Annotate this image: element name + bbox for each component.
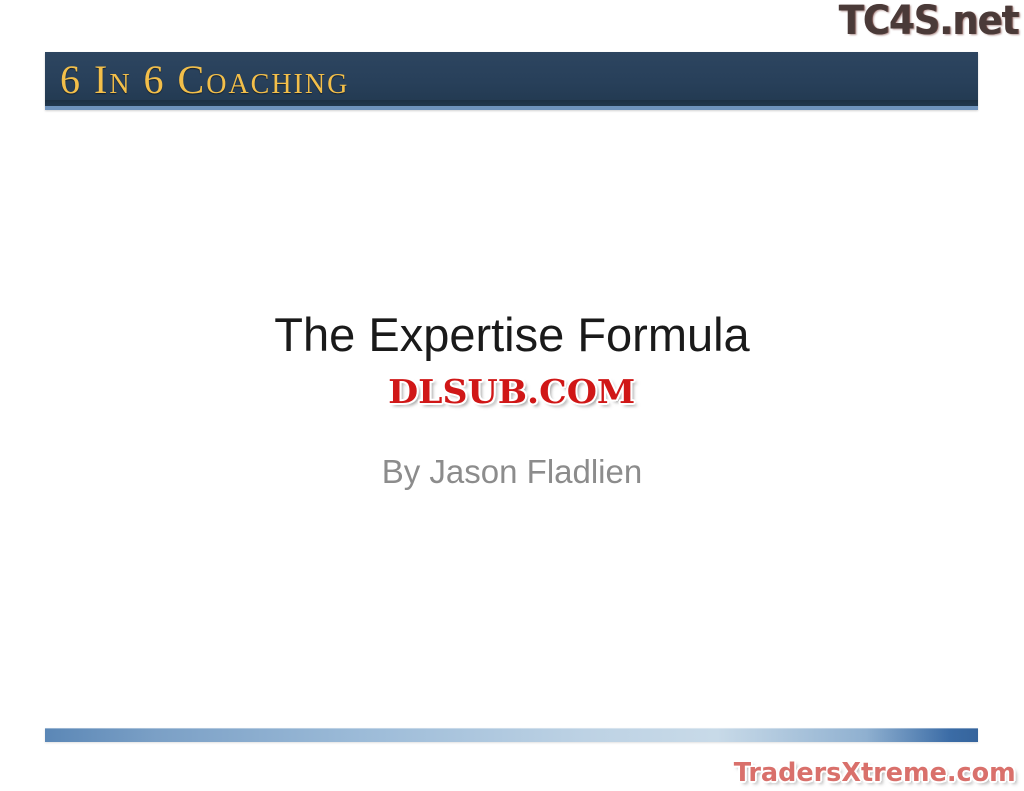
slide-header-title: 6 In 6 Coaching	[60, 53, 349, 107]
watermark-dlsub: DLSUB.COM	[388, 372, 635, 411]
slide-title: The Expertise Formula	[0, 306, 1024, 364]
watermark-dlsub-container: DLSUB.COM	[0, 372, 1024, 411]
slide-title-block: The Expertise Formula	[0, 306, 1024, 364]
slide-header-banner: 6 In 6 Coaching	[45, 52, 978, 110]
presentation-slide: TC4S.net 6 In 6 Coaching The Expertise F…	[0, 0, 1024, 791]
watermark-tradersxtreme: TradersXtreme.com	[734, 757, 1016, 790]
slide-subtitle: By Jason Fladlien	[0, 451, 1024, 493]
slide-footer-bar	[45, 728, 978, 742]
watermark-tc4s: TC4S.net	[838, 0, 1018, 44]
